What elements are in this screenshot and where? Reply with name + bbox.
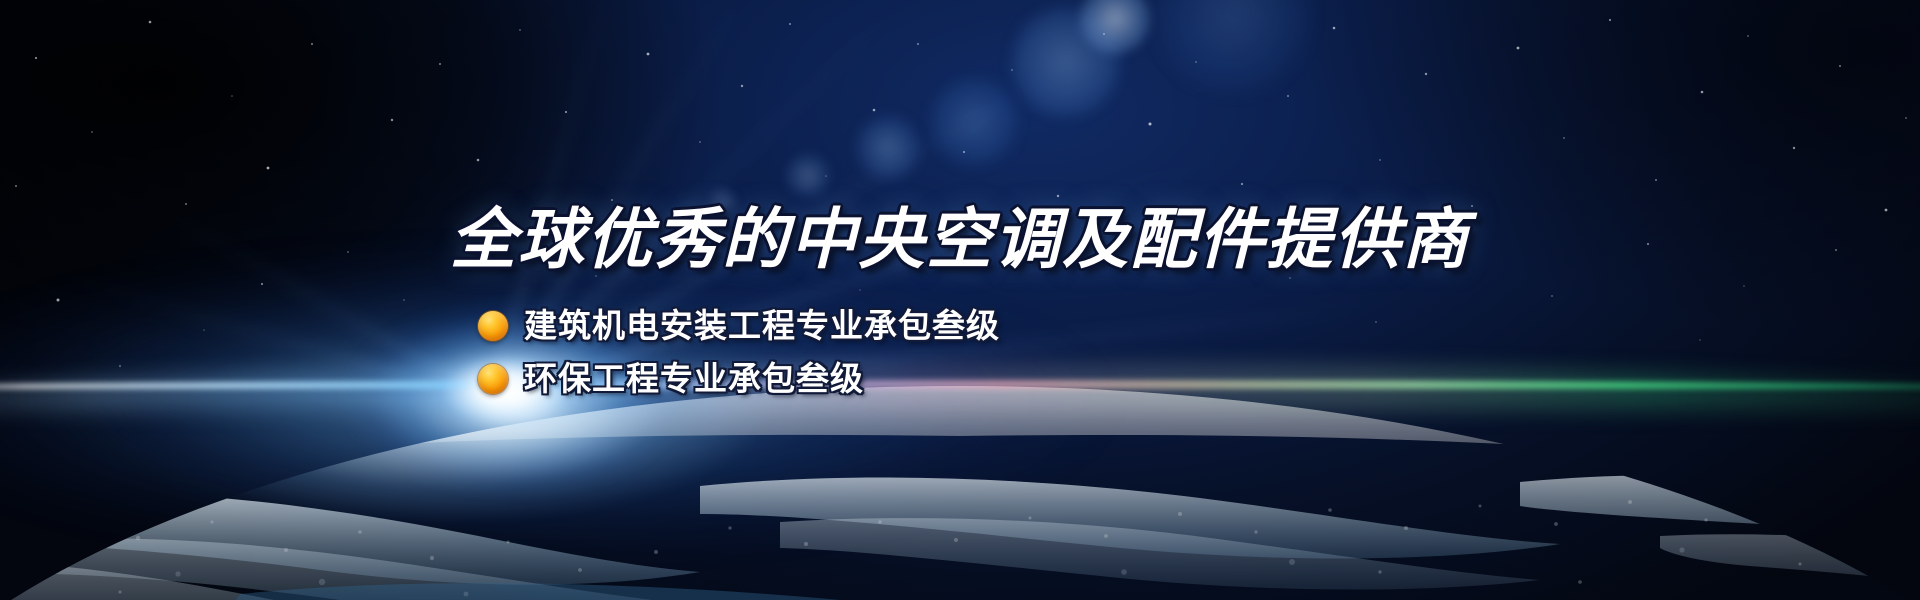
banner-bullet-list: 建筑机电安装工程专业承包叁级 环保工程专业承包叁级 xyxy=(0,308,1920,414)
orange-bullet-icon xyxy=(478,364,508,394)
banner-headline: 全球优秀的中央空调及配件提供商 xyxy=(0,206,1920,272)
banner-content: 全球优秀的中央空调及配件提供商 建筑机电安装工程专业承包叁级 环保工程专业承包叁… xyxy=(0,0,1920,600)
list-item: 建筑机电安装工程专业承包叁级 xyxy=(0,308,1920,345)
list-item: 环保工程专业承包叁级 xyxy=(0,361,1920,398)
bullet-label: 建筑机电安装工程专业承包叁级 xyxy=(524,308,1000,345)
bullet-label: 环保工程专业承包叁级 xyxy=(524,361,864,398)
hero-banner: 全球优秀的中央空调及配件提供商 建筑机电安装工程专业承包叁级 环保工程专业承包叁… xyxy=(0,0,1920,600)
orange-bullet-icon xyxy=(478,311,508,341)
